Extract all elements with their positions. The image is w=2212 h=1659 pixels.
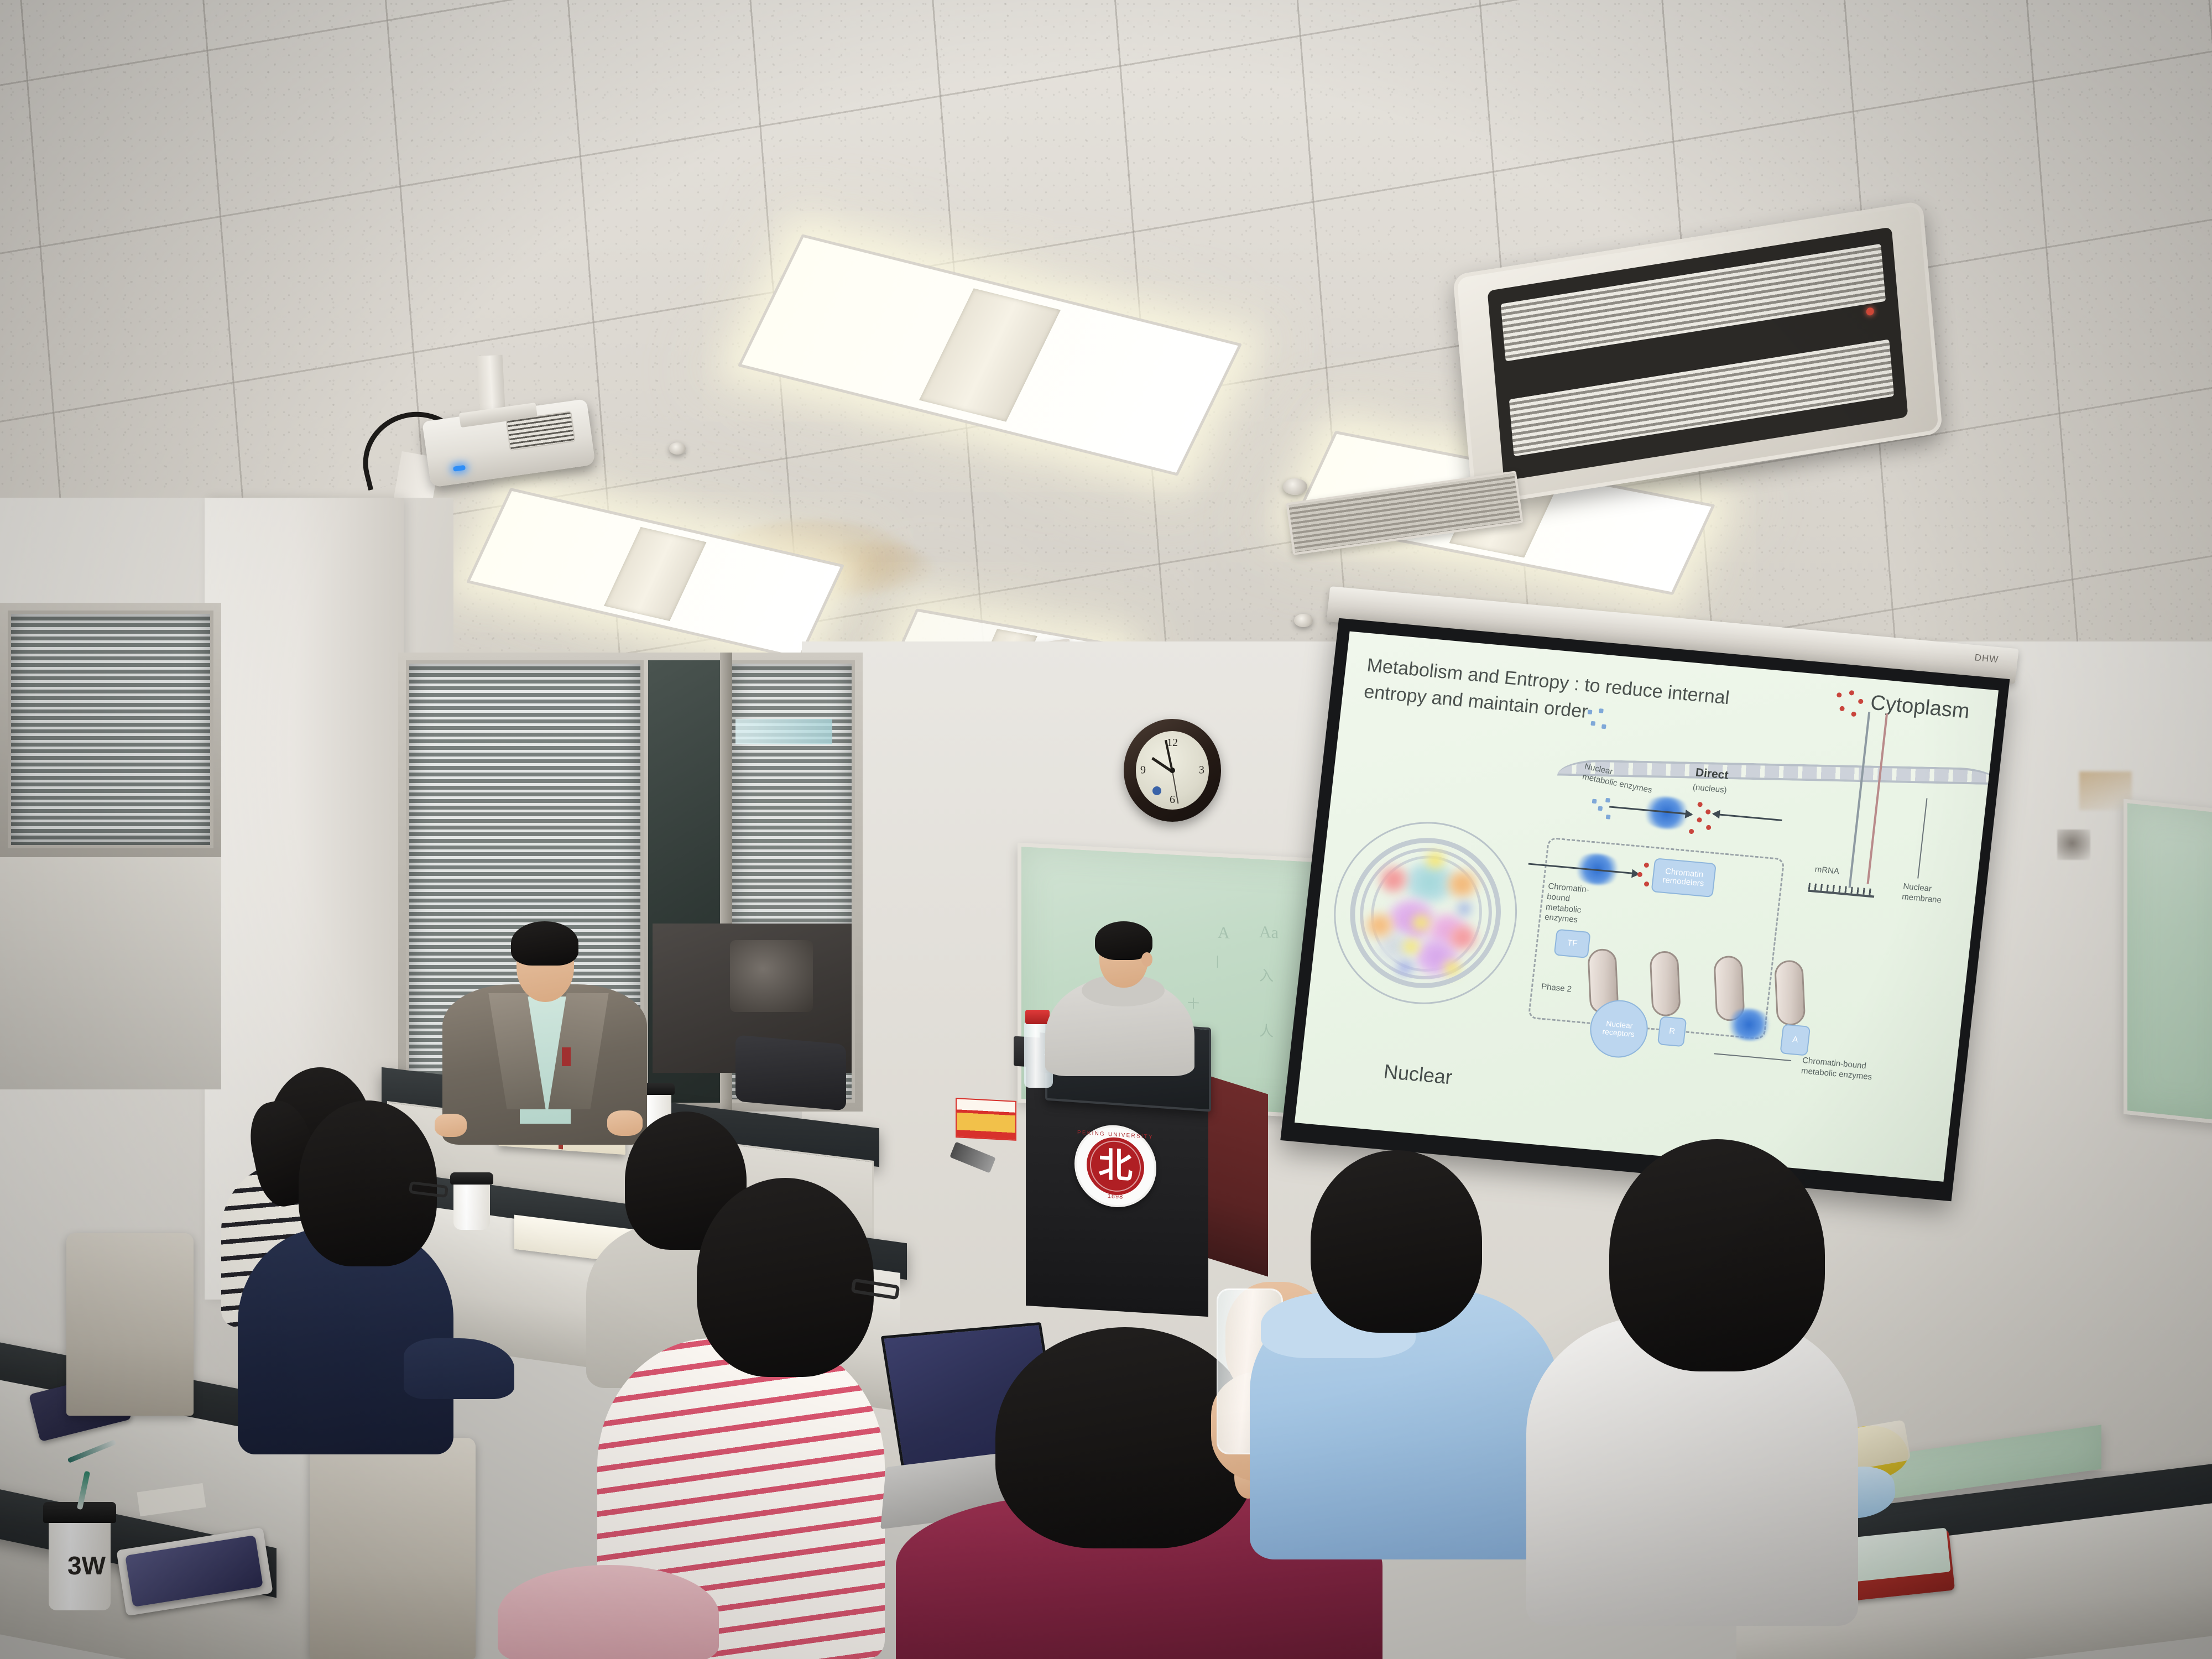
audience-hair [1609, 1139, 1825, 1371]
interior-light-reflection [735, 719, 832, 744]
smoke-detector [1283, 478, 1307, 495]
projection-screen: DHW Metabolism and Entropy : to reduce i… [1273, 589, 2018, 1206]
audience-arm [404, 1338, 514, 1399]
slide-label-nuclear: Nuclear [1383, 1060, 1453, 1089]
presentation-slide: Metabolism and Entropy : to reduce inter… [1295, 632, 1999, 1182]
slide-label-nuclear-membrane: Nuclearmembrane [1901, 881, 1970, 908]
audience-hair [1311, 1150, 1482, 1333]
clock-numeral-9: 9 [1140, 764, 1146, 777]
chair[interactable] [66, 1233, 194, 1416]
peking-university-logo: PEKING UNIVERSITY 北 1898 [1074, 1123, 1156, 1209]
standing-professor [442, 901, 653, 1139]
wall-panel [0, 857, 221, 1089]
receptor-chip-a: A [1780, 1024, 1811, 1056]
backpack [735, 1035, 846, 1110]
slide-label-mrna: mRNA [1814, 865, 1840, 878]
rear-cabinet-shelf [730, 940, 813, 1012]
smoke-detector [1294, 614, 1313, 627]
slide-title: Metabolism and Entropy : to reduce inter… [1363, 652, 1765, 741]
nucleus-illustration [1324, 814, 1526, 1012]
clock-sticker [1152, 786, 1161, 795]
slide-label-chromatin-bound-enzymes: Chromatin-boundmetabolicenzymes [1544, 881, 1609, 928]
mrna-transport-path-red [1867, 713, 1888, 884]
window-blinds [8, 611, 213, 848]
mrna-illustration [1808, 883, 1875, 898]
presenter-speaker [1040, 907, 1206, 1062]
professor-badge [562, 1047, 571, 1066]
slide-label-direct-sub: (nucleus) [1692, 782, 1728, 796]
greenboard-right [2124, 799, 2212, 1125]
audience-member [238, 1100, 470, 1454]
clock-center-pin [1170, 768, 1175, 773]
clock-numeral-6: 6 [1170, 794, 1175, 806]
slide-label-direct: Direct [1695, 766, 1729, 782]
receptor-chip-r: R [1657, 1016, 1687, 1047]
chair[interactable] [310, 1438, 476, 1659]
coffee-cup-3w[interactable]: 3W [49, 1516, 111, 1610]
audience-hair [697, 1178, 874, 1377]
chromatin-bound-leader [1714, 1053, 1791, 1061]
chromatin-remodelers-chip: Chromatin remodelers [1651, 858, 1716, 898]
presenter-ear [1141, 952, 1152, 967]
smoke-detector [669, 442, 686, 455]
coffee-cup-brand-text: 3W [67, 1551, 106, 1580]
wall-notice-sign [956, 1098, 1016, 1141]
projection-screen-frame: Metabolism and Entropy : to reduce inter… [1280, 618, 2010, 1201]
audience-member [1526, 1139, 1869, 1626]
wall-clock: 12 3 6 9 [1124, 719, 1221, 822]
ac-status-led [1866, 307, 1875, 316]
audience-member [498, 1565, 730, 1659]
wall-scuff [2057, 830, 2090, 860]
import-arrow [1713, 813, 1782, 821]
nuclear-membrane-leader [1917, 798, 1927, 878]
professor-hair [511, 921, 578, 966]
slide-label-cytoplasm: Cytoplasm [1869, 691, 1971, 724]
screen-brand-label: DHW [1974, 652, 2000, 665]
tf-chip: TF [1554, 929, 1591, 958]
audience-cap-pink [498, 1565, 719, 1659]
lecture-room-photo: 12 3 6 9 A Aa a | 入 十 人 主 DHW Metabolism… [0, 0, 2212, 1659]
mrna-transport-path [1849, 712, 1871, 888]
slide-label-chromatin-bound-enzymes-right: Chromatin-boundmetabolic enzymes [1801, 1056, 1907, 1086]
cytoplasm-particles [1829, 688, 1871, 725]
clock-numeral-3: 3 [1199, 764, 1204, 777]
nuclear-particles [1583, 707, 1613, 737]
